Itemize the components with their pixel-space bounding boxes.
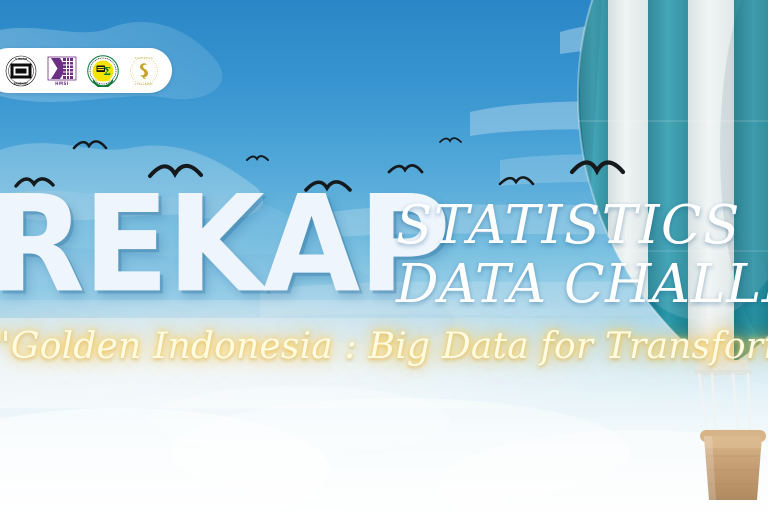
svg-text:BANDUNG: BANDUNG — [14, 81, 29, 85]
svg-text:UNISBA: UNISBA — [95, 77, 111, 81]
statistics-gold-seal-icon: STATISTICS CHALLENGE — [128, 55, 160, 87]
unisba-statistics-seal-logo[interactable]: Σ UNISBA — [87, 55, 119, 87]
unisba-statistics-seal-icon: Σ UNISBA — [87, 55, 119, 87]
subtitle-block: STATISTICS DATA CHALLENGE — [396, 196, 768, 315]
statistics-gold-seal-logo[interactable]: STATISTICS CHALLENGE — [128, 55, 160, 87]
hmsi-emblem-logo[interactable]: HMSI — [46, 55, 78, 87]
universitas-islam-bandung-seal-logo[interactable]: S ISLAM BANDUNG — [5, 55, 37, 87]
page-title-rekap: REKAP — [0, 178, 449, 312]
subtitle-line-statistics: STATISTICS — [396, 196, 768, 255]
svg-text:Σ: Σ — [103, 65, 111, 78]
event-banner: S ISLAM BANDUNG — [0, 0, 768, 512]
svg-text:S ISLAM: S ISLAM — [15, 56, 27, 60]
hmsi-emblem-icon: HMSI — [46, 55, 78, 87]
svg-text:HMSI: HMSI — [55, 81, 69, 86]
partner-logos-container: S ISLAM BANDUNG — [0, 48, 172, 93]
svg-text:CHALLENGE: CHALLENGE — [135, 83, 154, 86]
subtitle-line-data-challenge: DATA CHALLENGE — [396, 255, 768, 314]
svg-text:STATISTICS: STATISTICS — [135, 57, 153, 60]
event-tagline: "Golden Indonesia : Big Data for Transfo… — [0, 326, 768, 367]
universitas-islam-bandung-seal-icon: S ISLAM BANDUNG — [5, 55, 37, 87]
